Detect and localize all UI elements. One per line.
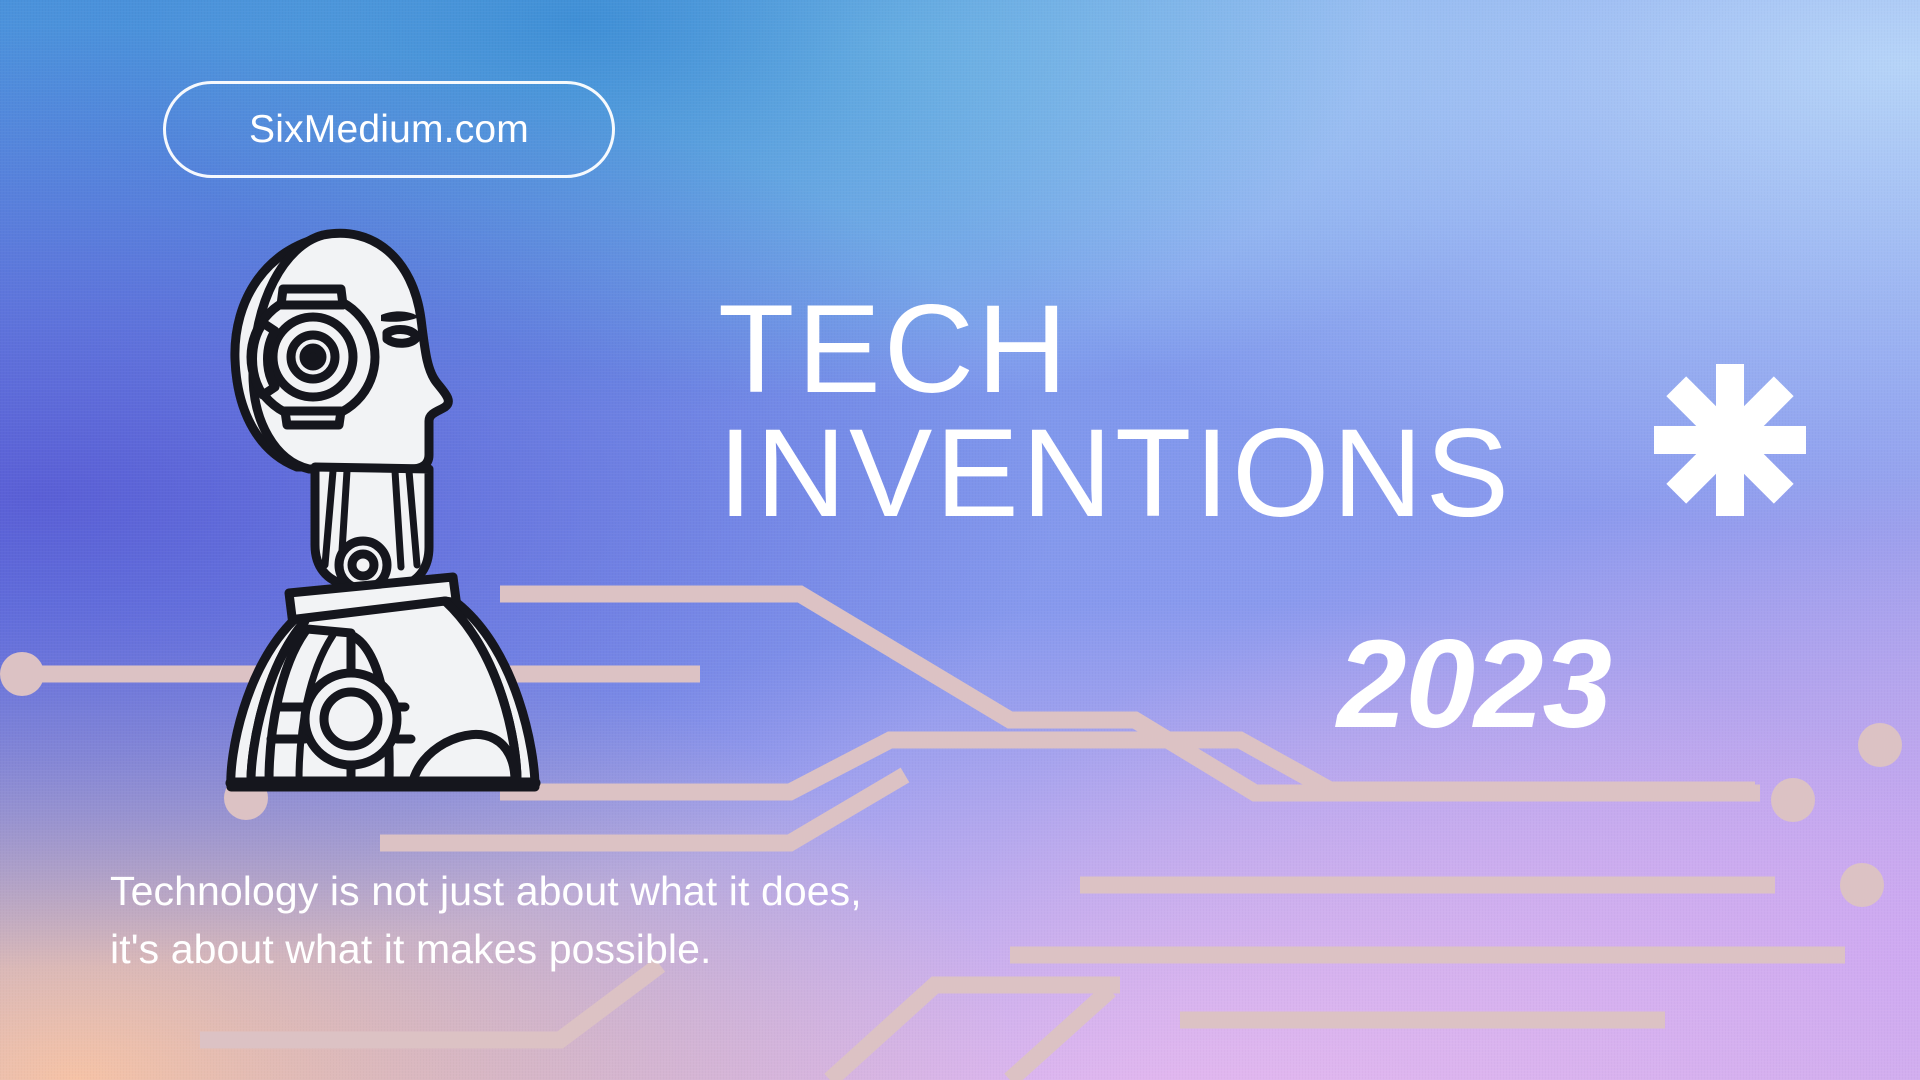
site-badge-label: SixMedium.com [249,108,529,152]
poster-canvas: SixMedium.com [0,0,1920,1080]
circuit-node-left [0,652,44,696]
tagline-line2: it's about what it makes possible. [110,920,862,978]
circuit-node-right-2 [1771,778,1815,822]
robot-bust-icon [205,215,555,795]
page-title-line2: INVENTIONS [718,412,1512,536]
circuit-node-right-1 [1858,723,1902,767]
asterisk-icon [1650,360,1810,520]
tagline-line1: Technology is not just about what it doe… [110,868,862,914]
circuit-node-right-3 [1840,863,1884,907]
page-title: TECH INVENTIONS [718,288,1512,536]
tagline: Technology is not just about what it doe… [110,862,862,978]
site-badge[interactable]: SixMedium.com [163,81,615,178]
year-label: 2023 [1337,622,1611,747]
page-title-line1: TECH [718,280,1070,419]
